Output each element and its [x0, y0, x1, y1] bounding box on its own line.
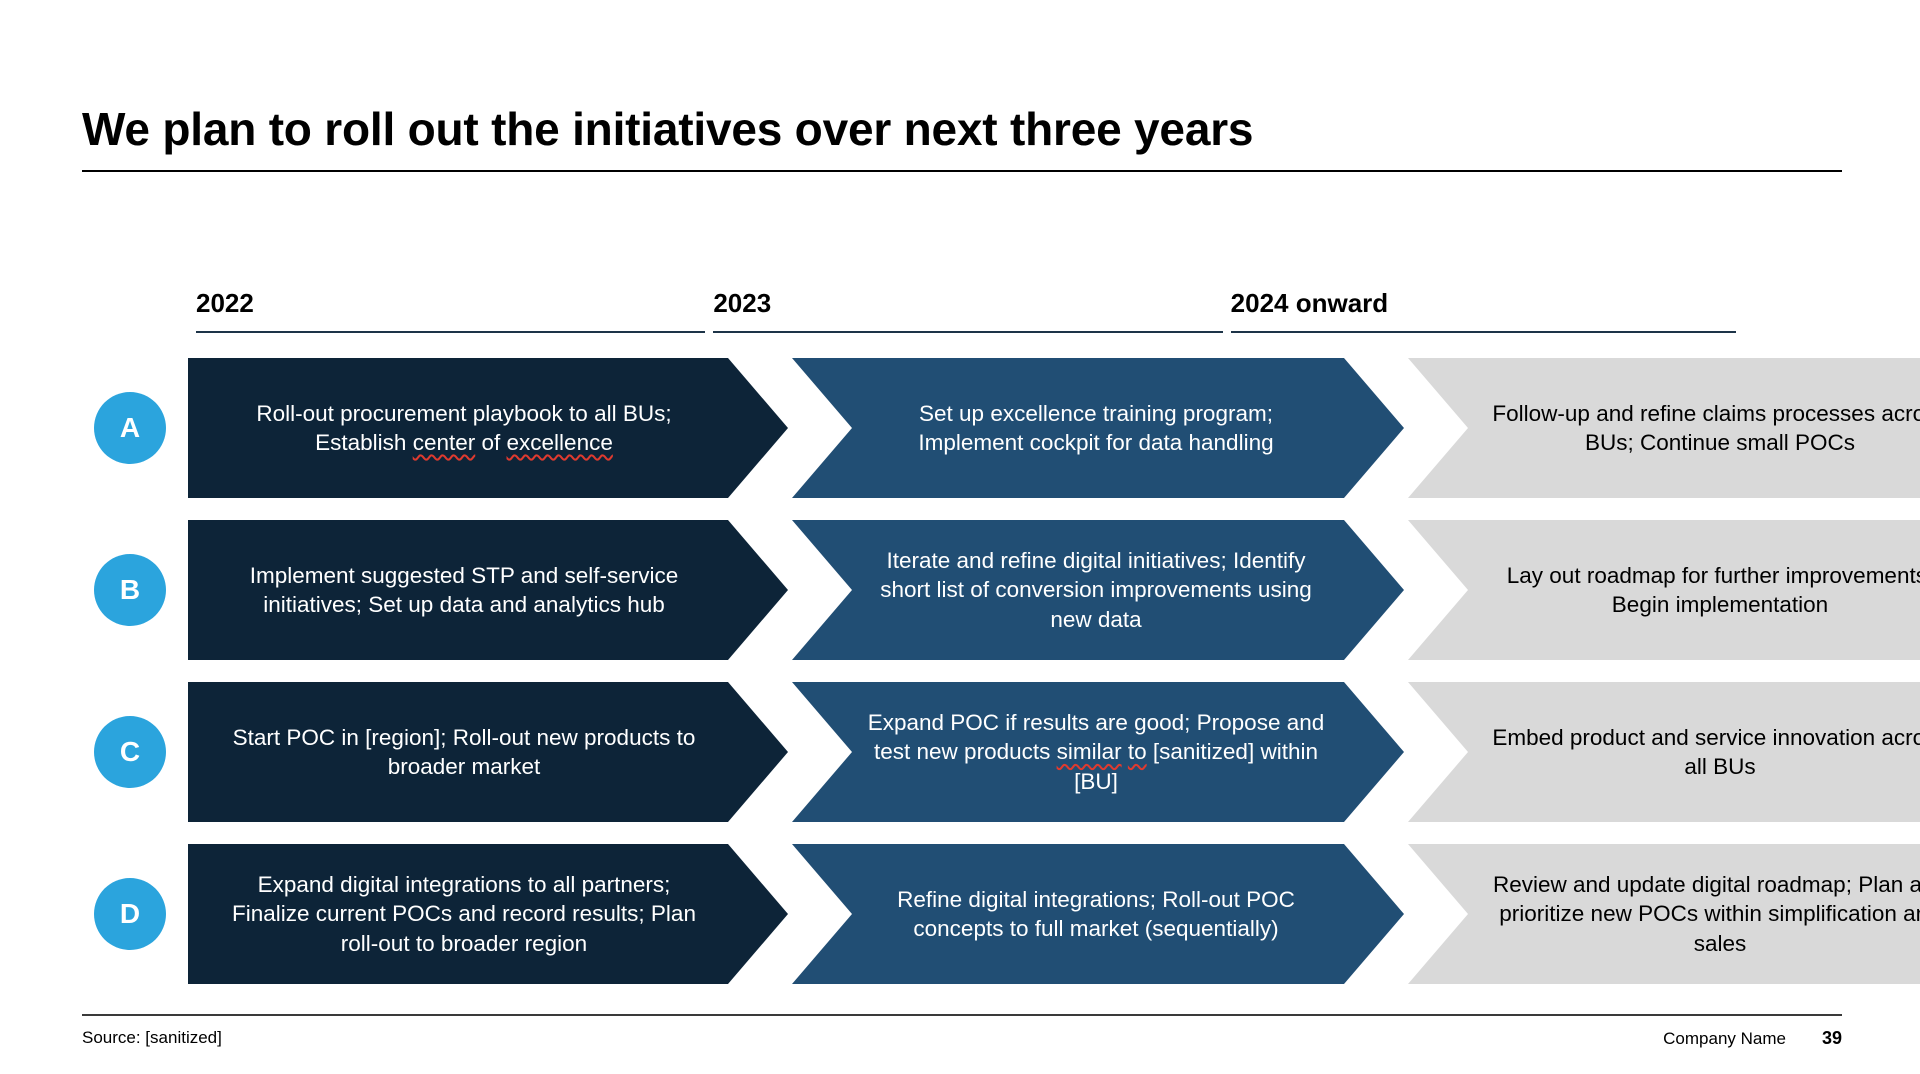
- chevron-stage-2022[interactable]: Roll-out procurement playbook to all BUs…: [188, 358, 788, 498]
- chevron-text: Start POC in [region]; Roll-out new prod…: [218, 723, 710, 782]
- footer-right: Company Name 39: [1663, 1028, 1842, 1049]
- roadmap-row: B Implement suggested STP and self-servi…: [0, 520, 1920, 660]
- chevron-stage-2023[interactable]: Iterate and refine digital initiatives; …: [792, 520, 1404, 660]
- row-badge-a: A: [94, 392, 166, 464]
- misspelled-word: excellence: [507, 430, 613, 455]
- chevron-stage-2024-onward[interactable]: Review and update digital roadmap; Plan …: [1408, 844, 1920, 984]
- column-header-2022: 2022: [196, 288, 705, 333]
- column-header-rule: [196, 331, 705, 333]
- chevron-stage-2022[interactable]: Implement suggested STP and self-service…: [188, 520, 788, 660]
- chevron-track: Start POC in [region]; Roll-out new prod…: [188, 682, 1818, 822]
- row-badge-d: D: [94, 878, 166, 950]
- chevron-text: Set up excellence training program; Impl…: [866, 399, 1326, 458]
- title-divider: [82, 170, 1842, 172]
- chevron-text: Embed product and service innovation acr…: [1484, 723, 1920, 782]
- roadmap-row: A Roll-out procurement playbook to all B…: [0, 358, 1920, 498]
- column-header-rule: [713, 331, 1222, 333]
- chevron-text: Expand POC if results are good; Propose …: [866, 708, 1326, 796]
- row-badge-b: B: [94, 554, 166, 626]
- chevron-text: Expand digital integrations to all partn…: [218, 870, 710, 958]
- chevron-text: Lay out roadmap for further improvements…: [1484, 561, 1920, 620]
- chevron-stage-2024-onward[interactable]: Follow-up and refine claims processes ac…: [1408, 358, 1920, 498]
- chevron-text: Iterate and refine digital initiatives; …: [866, 546, 1326, 634]
- chevron-stage-2022[interactable]: Expand digital integrations to all partn…: [188, 844, 788, 984]
- column-header-2023: 2023: [713, 288, 1222, 333]
- misspelled-word: center: [413, 430, 476, 455]
- chevron-text: Refine digital integrations; Roll-out PO…: [866, 885, 1326, 944]
- roadmap-row: C Start POC in [region]; Roll-out new pr…: [0, 682, 1920, 822]
- chevron-text: Roll-out procurement playbook to all BUs…: [218, 399, 710, 458]
- column-header-2024-onward: 2024 onward: [1231, 288, 1736, 333]
- column-header-rule: [1231, 331, 1736, 333]
- column-header-label: 2024 onward: [1231, 288, 1736, 331]
- chevron-stage-2023[interactable]: Set up excellence training program; Impl…: [792, 358, 1404, 498]
- page-title: We plan to roll out the initiatives over…: [82, 105, 1842, 154]
- page-number: 39: [1822, 1028, 1842, 1049]
- chevron-stage-2024-onward[interactable]: Lay out roadmap for further improvements…: [1408, 520, 1920, 660]
- column-header-label: 2022: [196, 288, 705, 331]
- row-badge-c: C: [94, 716, 166, 788]
- title-block: We plan to roll out the initiatives over…: [82, 105, 1842, 172]
- roadmap-row: D Expand digital integrations to all par…: [0, 844, 1920, 984]
- chevron-track: Implement suggested STP and self-service…: [188, 520, 1818, 660]
- chevron-stage-2024-onward[interactable]: Embed product and service innovation acr…: [1408, 682, 1920, 822]
- misspelled-word: to: [1128, 739, 1147, 764]
- slide-canvas: We plan to roll out the initiatives over…: [0, 0, 1920, 1074]
- misspelled-word: similar: [1057, 739, 1122, 764]
- chevron-track: Expand digital integrations to all partn…: [188, 844, 1818, 984]
- chevron-text: Implement suggested STP and self-service…: [218, 561, 710, 620]
- chevron-track: Roll-out procurement playbook to all BUs…: [188, 358, 1818, 498]
- timeline-column-headers: 2022 2023 2024 onward: [196, 288, 1736, 333]
- footer-divider: [82, 1014, 1842, 1016]
- chevron-text: Follow-up and refine claims processes ac…: [1484, 399, 1920, 458]
- chevron-stage-2023[interactable]: Expand POC if results are good; Propose …: [792, 682, 1404, 822]
- roadmap-rows: A Roll-out procurement playbook to all B…: [0, 358, 1920, 1006]
- chevron-stage-2023[interactable]: Refine digital integrations; Roll-out PO…: [792, 844, 1404, 984]
- company-name: Company Name: [1663, 1029, 1786, 1049]
- column-header-label: 2023: [713, 288, 1222, 331]
- source-note: Source: [sanitized]: [82, 1028, 222, 1048]
- chevron-stage-2022[interactable]: Start POC in [region]; Roll-out new prod…: [188, 682, 788, 822]
- chevron-text: Review and update digital roadmap; Plan …: [1484, 870, 1920, 958]
